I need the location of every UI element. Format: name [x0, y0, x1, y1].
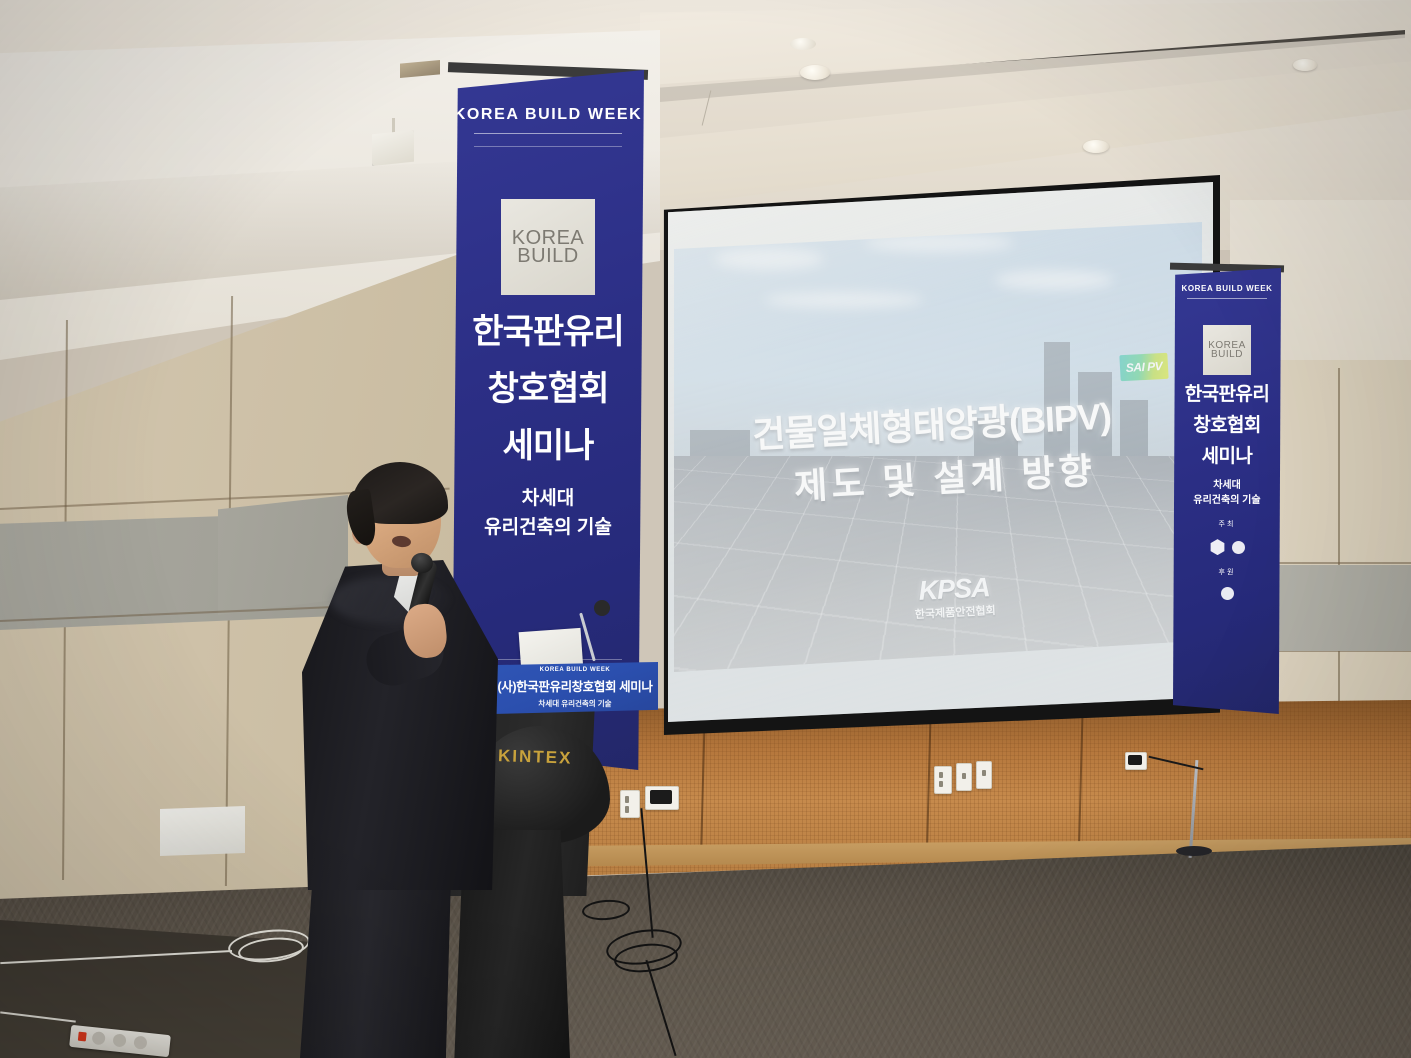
ceiling-downlight: [800, 65, 830, 80]
power-socket: [133, 1036, 147, 1050]
korea-build-logo-line2: BUILD: [517, 247, 578, 265]
microphone-stand-base: [1176, 846, 1212, 856]
power-switch-indicator[interactable]: [78, 1032, 87, 1042]
slide-image: SAI PV 건물일체형태양광(BIPV) 제도 및 설계 방향 KPSA 한국…: [674, 222, 1202, 672]
wall-outlet-icon: [976, 761, 992, 789]
cloud-decor: [764, 292, 924, 308]
wireless-access-point-icon: [372, 130, 414, 166]
grey-acoustic-band: [1258, 565, 1411, 651]
kpsa-logo: KPSA 한국제품안전협회: [913, 572, 996, 622]
banner-right-host-label: 주최: [1173, 519, 1281, 529]
divider: [474, 146, 622, 147]
podium-sign-kicker: KOREA BUILD WEEK: [492, 667, 658, 673]
sponsor-circle-icon: [1221, 587, 1234, 600]
korea-build-logo: KOREA BUILD: [1203, 325, 1251, 375]
wall-outlet-icon: [956, 763, 972, 791]
wall-outlet-plug: [1128, 755, 1142, 765]
power-socket: [92, 1031, 106, 1045]
banner-left-title-line3: 세미나: [452, 427, 644, 466]
banner-right-kicker: KOREA BUILD WEEK: [1173, 284, 1281, 293]
banner-right-support-label: 후원: [1173, 567, 1281, 577]
cloud-decor: [864, 234, 1014, 252]
sponsor-circle-icon: [1232, 541, 1245, 554]
banner-right-subtitle-line2: 유리건축의 기술: [1173, 494, 1281, 507]
banner-right-title-line1: 한국판유리: [1173, 384, 1281, 406]
podium-sign-subtitle: 차세대 유리건축의 기술: [492, 698, 658, 709]
banner-left-title-line1: 한국판유리: [452, 313, 644, 352]
divider: [1187, 298, 1267, 299]
wall-notice-card: [160, 806, 245, 856]
banner-left-kicker: KOREA BUILD WEEK: [452, 106, 644, 124]
power-socket: [112, 1033, 126, 1047]
wall-panel-seam: [1258, 562, 1411, 564]
projection-screen: SAI PV 건물일체형태양광(BIPV) 제도 및 설계 방향 KPSA 한국…: [668, 182, 1213, 722]
gooseneck-microphone-head: [594, 600, 610, 616]
banner-left-subtitle-line2: 유리건축의 기술: [452, 516, 644, 541]
smoke-detector-icon: [790, 38, 816, 50]
photo-scene: SAI PV 건물일체형태양광(BIPV) 제도 및 설계 방향 KPSA 한국…: [0, 0, 1411, 1058]
banner-right-title-line2: 창호협회: [1173, 415, 1281, 437]
wall-outlet-icon: [620, 790, 640, 818]
banner-right-host-row: [1173, 539, 1281, 555]
ceiling-downlight: [1083, 140, 1109, 153]
korea-build-logo-line2: BUILD: [1211, 350, 1243, 359]
wall-outlet-icon: [934, 766, 952, 794]
korea-build-logo: KOREA BUILD: [501, 199, 595, 295]
cloud-decor: [714, 248, 824, 270]
kintex-brand-label: KINTEX: [498, 746, 609, 772]
grey-acoustic-band: [218, 495, 348, 615]
banner-right-subtitle-line1: 차세대: [1173, 479, 1281, 492]
wall-outlet-plug: [650, 790, 672, 804]
podium-sign: KOREA BUILD WEEK (사)한국판유리창호협회 세미나 차세대 유리…: [492, 662, 658, 714]
cloud-decor: [994, 270, 1114, 290]
divider: [474, 133, 622, 134]
saipv-logo: SAI PV: [1119, 353, 1168, 381]
banner-right-support-row: [1173, 587, 1281, 600]
access-point-stem: [392, 118, 395, 134]
banner-left-subtitle-line1: 차세대: [452, 487, 644, 512]
sponsor-hex-icon: [1210, 539, 1226, 555]
banner-left-title-line2: 창호협회: [452, 370, 644, 409]
ceiling-downlight: [1293, 59, 1317, 71]
banner-right: KOREA BUILD WEEK KOREA BUILD 한국판유리 창호협회 …: [1173, 268, 1281, 714]
podium-sign-title: (사)한국판유리창호협회 세미나: [492, 676, 658, 695]
banner-right-title-line3: 세미나: [1173, 446, 1281, 468]
